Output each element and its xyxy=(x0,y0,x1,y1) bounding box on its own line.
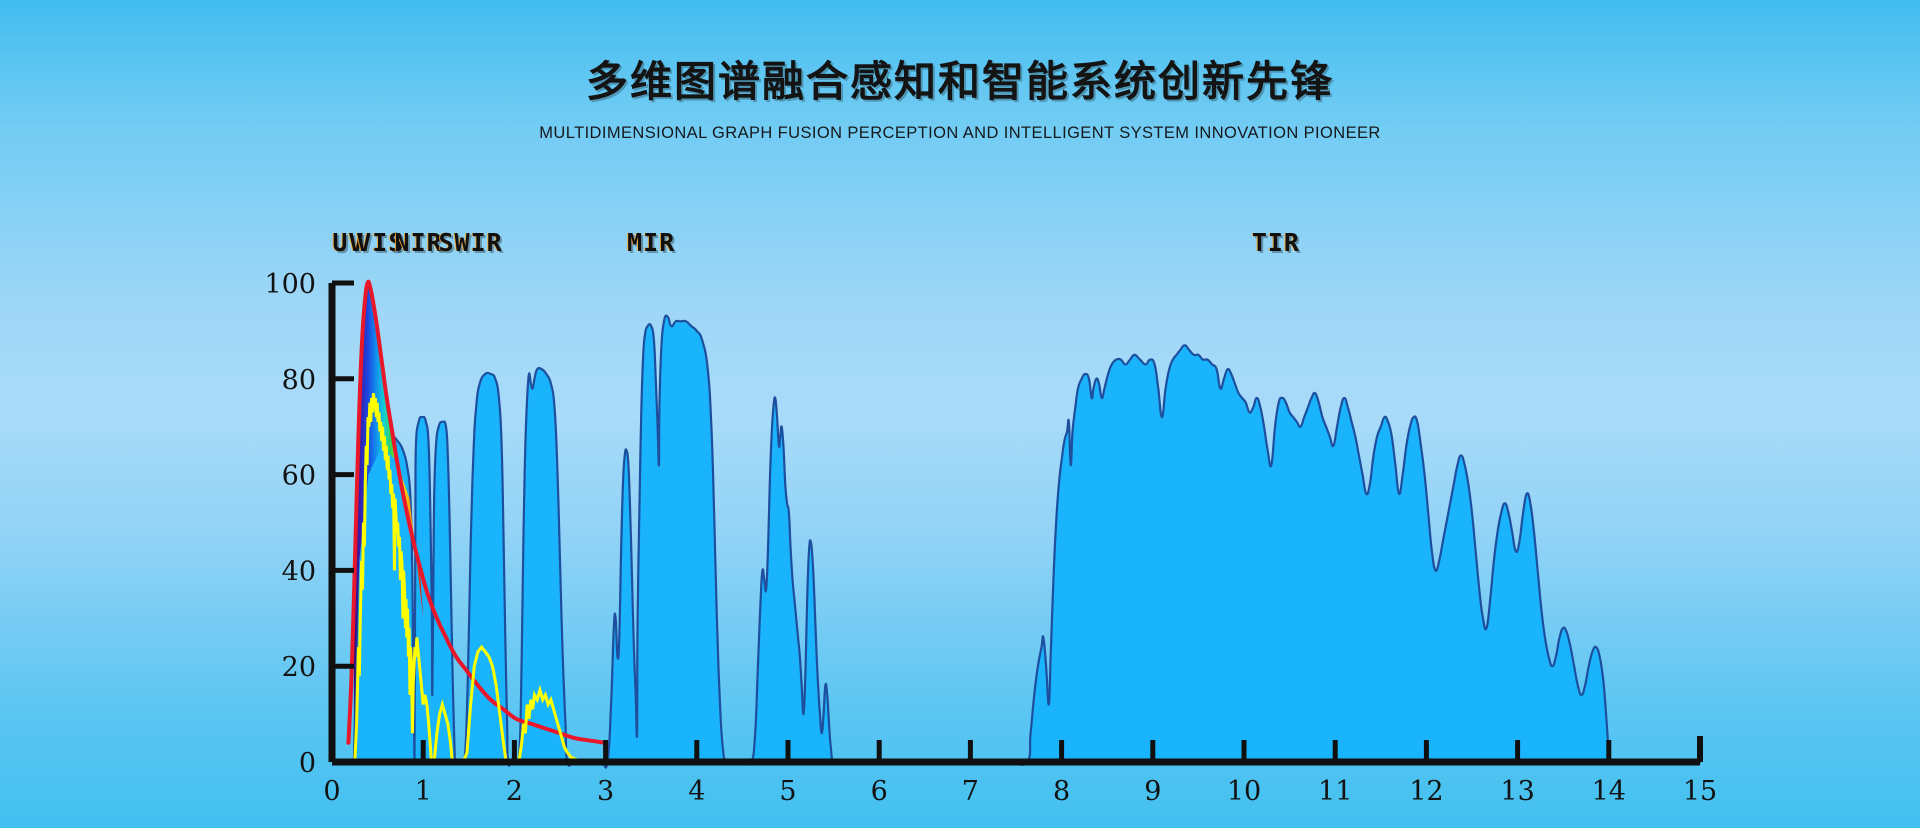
x-tick-label: 7 xyxy=(962,776,979,807)
x-tick-label: 14 xyxy=(1592,776,1626,807)
y-tick-label: 80 xyxy=(282,365,316,396)
x-tick-label: 13 xyxy=(1500,776,1534,807)
x-tick-label: 9 xyxy=(1144,776,1161,807)
y-tick-label: 0 xyxy=(299,748,316,779)
x-tick-label: 2 xyxy=(506,776,523,807)
x-tick-label: 5 xyxy=(779,776,796,807)
y-tick-labels: 020406080100 xyxy=(264,269,316,779)
x-tick-labels: 0123456789101112131415 xyxy=(323,776,1717,807)
y-tick-label: 100 xyxy=(264,269,316,300)
x-tick-label: 8 xyxy=(1053,776,1070,807)
y-tick-label: 20 xyxy=(282,652,316,683)
x-tick-label: 6 xyxy=(871,776,888,807)
x-tick-label: 15 xyxy=(1683,776,1717,807)
spectrum-chart: 0123456789101112131415 020406080100 xyxy=(0,0,1920,828)
x-tick-label: 11 xyxy=(1318,776,1352,807)
x-tick-label: 10 xyxy=(1227,776,1261,807)
atmospheric-transmission-area xyxy=(354,316,1700,768)
x-tick-label: 1 xyxy=(415,776,432,807)
x-tick-label: 3 xyxy=(597,776,614,807)
x-tick-label: 12 xyxy=(1409,776,1443,807)
poster-stage: 多维图谱融合感知和智能系统创新先锋 MULTIDIMENSIONAL GRAPH… xyxy=(0,0,1920,828)
x-tick-label: 4 xyxy=(688,776,705,807)
x-tick-label: 0 xyxy=(323,776,340,807)
y-tick-label: 60 xyxy=(282,461,316,492)
y-tick-label: 40 xyxy=(282,556,316,587)
